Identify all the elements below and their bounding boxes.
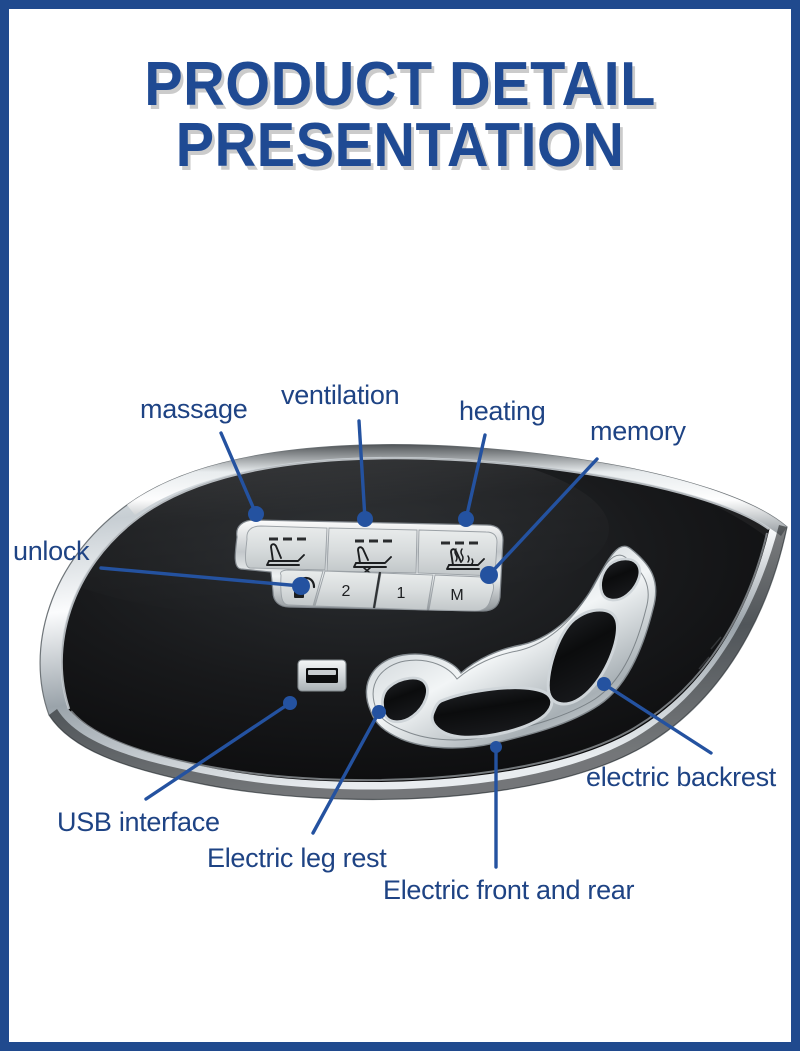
callout-label-usb: USB interface: [57, 807, 220, 838]
callout-label-unlock: unlock: [13, 536, 89, 567]
page-root: PRODUCT DETAIL PRESENTATION: [0, 0, 800, 1051]
callout-label-massage: massage: [140, 394, 247, 425]
callout-label-backrest: electric backrest: [586, 762, 776, 793]
dot-frontrear: [490, 741, 502, 753]
memory-1-label: 1: [397, 585, 406, 602]
callout-label-front-rear: Electric front and rear: [383, 875, 634, 906]
dot-usb: [283, 696, 297, 710]
callout-label-heating: heating: [459, 396, 545, 427]
seat-function-button-cluster: 2 1 M: [235, 520, 503, 611]
usb-port[interactable]: [298, 660, 346, 691]
callout-label-memory: memory: [590, 416, 686, 447]
dot-heating: [458, 511, 474, 527]
dot-legrest: [372, 705, 386, 719]
massage-button[interactable]: [246, 526, 328, 570]
callout-label-legrest: Electric leg rest: [207, 843, 386, 874]
dot-unlock: [292, 577, 310, 595]
dot-massage: [248, 506, 264, 522]
dot-backrest: [597, 677, 611, 691]
usb-socket-tongue: [308, 670, 336, 675]
door-panel-body: [9, 439, 791, 799]
dot-ventilation: [357, 511, 373, 527]
memory-m-label: M: [450, 587, 463, 604]
dot-memory: [480, 566, 498, 584]
callout-label-ventilation: ventilation: [281, 380, 399, 411]
memory-2-label: 2: [342, 583, 351, 600]
